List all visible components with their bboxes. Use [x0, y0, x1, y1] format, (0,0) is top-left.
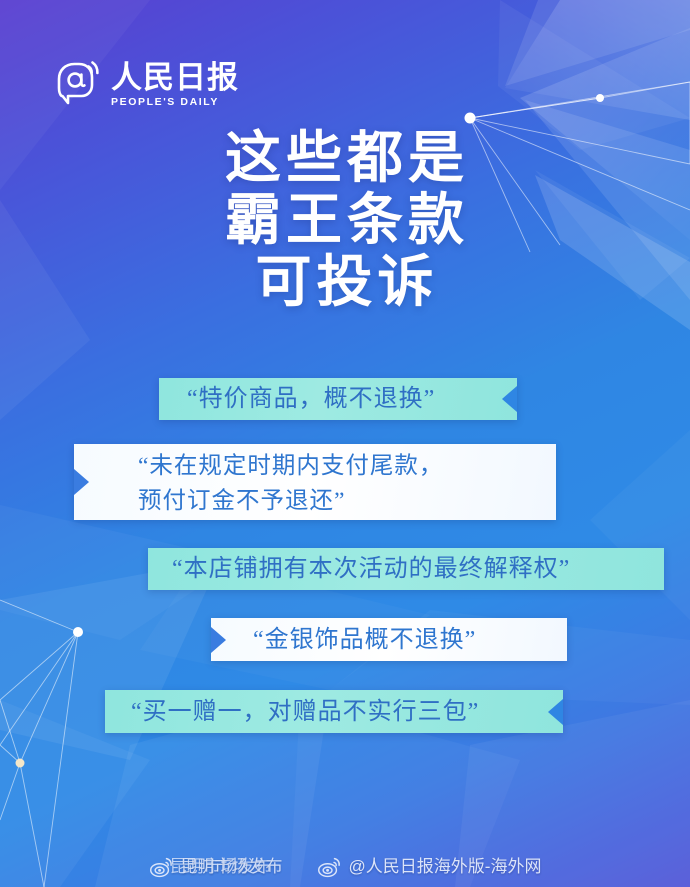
claim-ribbon-1: “特价商品，概不退换”	[159, 378, 517, 420]
headline-line-2: 霸王条款	[0, 190, 690, 252]
watermark-kunming: 昆明市场发布昆明市场发布	[149, 856, 283, 878]
headline: 这些都是 霸王条款 可投诉	[0, 128, 690, 314]
chevron-notch-left-icon	[211, 627, 226, 653]
claim-ribbon-2: “未在规定时期内支付尾款， 预付订金不予退还”	[74, 444, 556, 520]
watermark-label-overseas: @人民日报海外版-海外网	[349, 856, 542, 878]
claim-ribbon-4: “金银饰品概不退换”	[211, 618, 567, 661]
watermark-label-ghost: 昆明市场发布	[170, 856, 272, 878]
headline-line-1: 这些都是	[0, 128, 690, 190]
watermark-label-kunming: 昆明市场发布昆明市场发布	[181, 856, 283, 878]
brand-logo: 人民日报 PEOPLE'S DAILY	[52, 57, 239, 109]
claim-text-3: “本店铺拥有本次活动的最终解释权”	[172, 550, 646, 588]
claim-ribbon-5: “买一赠一，对赠品不实行三包”	[105, 690, 563, 733]
watermark-peoples-daily-overseas: @人民日报海外版-海外网	[317, 856, 542, 878]
poster-canvas: 人民日报 PEOPLE'S DAILY 这些都是 霸王条款 可投诉 “特价商品，…	[0, 0, 690, 887]
chevron-notch-right-icon	[502, 386, 517, 412]
chevron-notch-left-icon	[74, 469, 89, 495]
claim-text-4: “金银饰品概不退换”	[253, 621, 547, 659]
claim-ribbon-3: “本店铺拥有本次活动的最终解释权”	[148, 548, 664, 590]
weibo-icon	[317, 856, 342, 878]
claim-text-2: “未在规定时期内支付尾款， 预付订金不予退还”	[138, 449, 532, 519]
at-speech-bubble-icon	[52, 57, 104, 109]
claim-text-1: “特价商品，概不退换”	[187, 380, 491, 418]
footer-watermarks: 昆明市场发布昆明市场发布 @人民日报海外版-海外网	[0, 856, 690, 878]
brand-name-cn: 人民日报	[111, 61, 239, 94]
brand-name-en: PEOPLE'S DAILY	[111, 95, 239, 109]
chevron-notch-right-icon	[548, 699, 563, 725]
claim-text-5: “买一赠一，对赠品不实行三包”	[131, 693, 535, 731]
headline-line-3: 可投诉	[0, 252, 690, 314]
